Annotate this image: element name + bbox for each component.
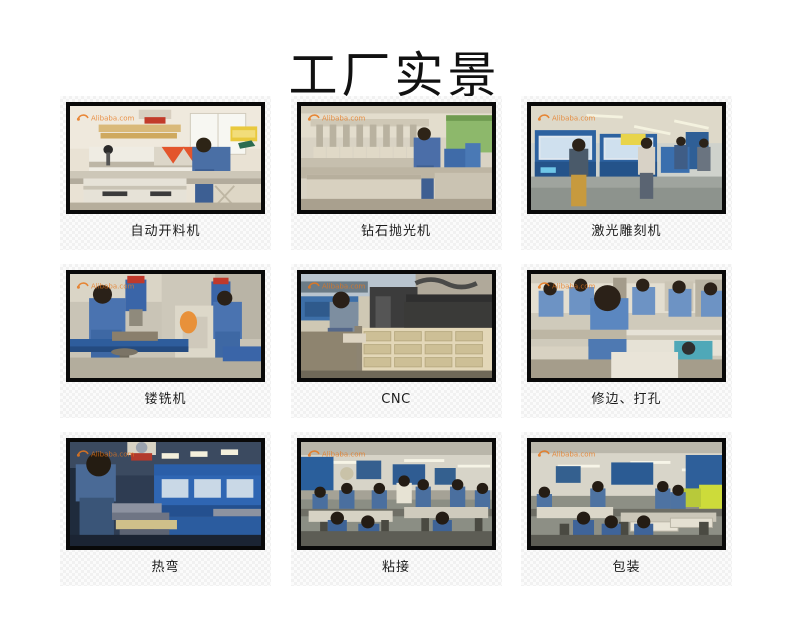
photo-hot-bending-line — [70, 442, 261, 546]
card-caption: 激光雕刻机 — [527, 214, 726, 248]
card-caption: 包装 — [527, 550, 726, 584]
gallery-card-hot-bending[interactable]: Alibaba.com 热弯 — [60, 432, 271, 586]
factory-gallery-page: 工厂实景 — [0, 0, 789, 623]
photo-cnc-table — [301, 274, 492, 378]
gallery-card-auto-cutting-machine[interactable]: Alibaba.com 自动开料机 — [60, 96, 271, 250]
gallery-card-router-milling-machine[interactable]: Alibaba.com 镂铣机 — [60, 264, 271, 418]
gallery-row: Alibaba.com 热弯 — [60, 432, 732, 586]
gallery-grid: Alibaba.com 自动开料机 — [60, 96, 732, 600]
card-caption: 镂铣机 — [66, 382, 265, 416]
gallery-card-packing[interactable]: Alibaba.com 包装 — [521, 432, 732, 586]
photo-laser-machines — [531, 106, 722, 210]
photo-router-bench — [70, 274, 261, 378]
page-title-area: 工厂实景 — [0, 0, 789, 72]
photo-frame[interactable]: Alibaba.com — [297, 270, 496, 382]
photo-frame[interactable]: Alibaba.com — [66, 270, 265, 382]
photo-frame[interactable]: Alibaba.com — [527, 102, 726, 214]
photo-polishing-line — [301, 106, 492, 210]
photo-trim-drill-bench — [531, 274, 722, 378]
gallery-card-laser-engraving-machine[interactable]: Alibaba.com 激光雕刻机 — [521, 96, 732, 250]
photo-frame[interactable]: Alibaba.com — [527, 438, 726, 550]
photo-frame[interactable]: Alibaba.com — [527, 270, 726, 382]
photo-frame[interactable]: Alibaba.com — [297, 438, 496, 550]
gallery-card-bonding[interactable]: Alibaba.com 粘接 — [291, 432, 502, 586]
gallery-card-trimming-drilling[interactable]: Alibaba.com 修边、打孔 — [521, 264, 732, 418]
card-caption: 钻石抛光机 — [297, 214, 496, 248]
photo-panel-saw — [70, 106, 261, 210]
card-caption: 热弯 — [66, 550, 265, 584]
photo-frame[interactable]: Alibaba.com — [297, 102, 496, 214]
gallery-row: Alibaba.com 镂铣机 — [60, 264, 732, 418]
gallery-row: Alibaba.com 自动开料机 — [60, 96, 732, 250]
gallery-card-diamond-polishing-machine[interactable]: Alibaba.com 钻石抛光机 — [291, 96, 502, 250]
photo-assembly-hall — [301, 442, 492, 546]
card-caption: 修边、打孔 — [527, 382, 726, 416]
photo-frame[interactable]: Alibaba.com — [66, 102, 265, 214]
card-caption: CNC — [297, 382, 496, 416]
card-caption: 粘接 — [297, 550, 496, 584]
photo-frame[interactable]: Alibaba.com — [66, 438, 265, 550]
card-caption: 自动开料机 — [66, 214, 265, 248]
photo-packing-hall — [531, 442, 722, 546]
gallery-card-cnc[interactable]: Alibaba.com CNC — [291, 264, 502, 418]
